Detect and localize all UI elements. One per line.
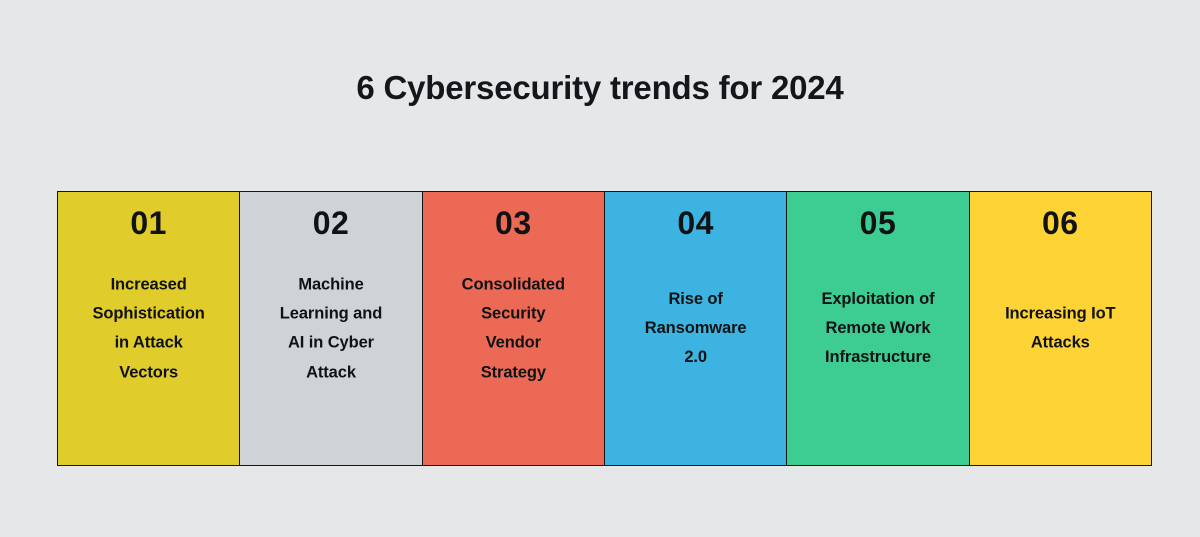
trend-label-02: Machine Learning and AI in Cyber Attack [240, 270, 421, 387]
trend-label-05: Exploitation of Remote Work Infrastructu… [787, 284, 968, 372]
trend-column-06: 06 Increasing IoT Attacks [970, 192, 1151, 465]
page-title: 6 Cybersecurity trends for 2024 [0, 68, 1200, 108]
trend-number-05: 05 [787, 204, 968, 242]
trend-number-02: 02 [240, 204, 421, 242]
trend-number-04: 04 [605, 204, 786, 242]
trend-column-01: 01 Increased Sophistication in Attack Ve… [58, 192, 240, 465]
trend-number-06: 06 [970, 204, 1151, 242]
trends-panel: 01 Increased Sophistication in Attack Ve… [57, 191, 1152, 466]
infographic-root: 6 Cybersecurity trends for 2024 01 Incre… [0, 0, 1200, 537]
trend-column-04: 04 Rise of Ransomware 2.0 [605, 192, 787, 465]
trend-label-01: Increased Sophistication in Attack Vecto… [58, 270, 239, 387]
trend-number-03: 03 [423, 204, 604, 242]
trend-number-01: 01 [58, 204, 239, 242]
trend-column-02: 02 Machine Learning and AI in Cyber Atta… [240, 192, 422, 465]
trend-column-03: 03 Consolidated Security Vendor Strategy [423, 192, 605, 465]
trend-label-06: Increasing IoT Attacks [970, 299, 1151, 358]
trend-column-05: 05 Exploitation of Remote Work Infrastru… [787, 192, 969, 465]
trend-label-03: Consolidated Security Vendor Strategy [423, 270, 604, 387]
trend-label-04: Rise of Ransomware 2.0 [605, 284, 786, 372]
